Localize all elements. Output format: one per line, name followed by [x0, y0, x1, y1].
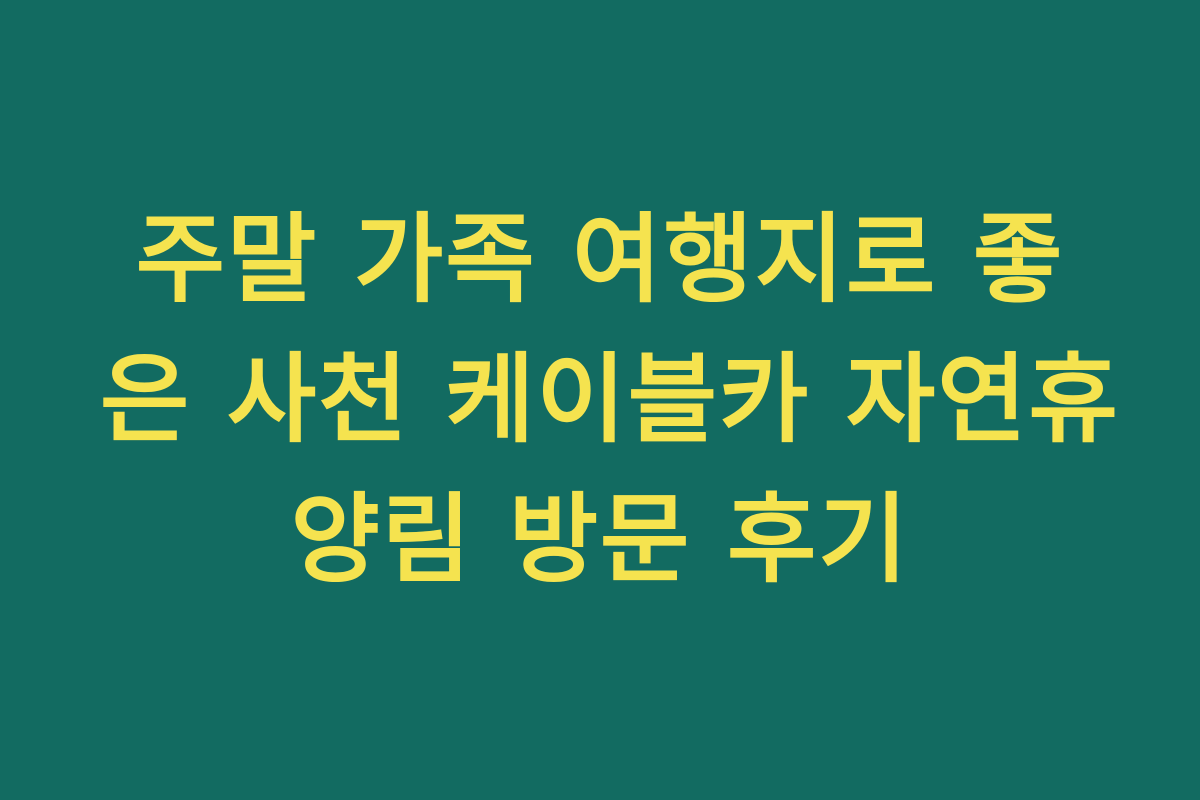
- title-line-2: 은 사천 케이블카 자연휴: [100, 330, 1100, 470]
- title-card: 주말 가족 여행지로 좋 은 사천 케이블카 자연휴 양림 방문 후기: [0, 0, 1200, 800]
- page-title: 주말 가족 여행지로 좋 은 사천 케이블카 자연휴 양림 방문 후기: [100, 190, 1100, 610]
- title-line-3: 양림 방문 후기: [100, 470, 1100, 610]
- title-line-1: 주말 가족 여행지로 좋: [100, 190, 1100, 330]
